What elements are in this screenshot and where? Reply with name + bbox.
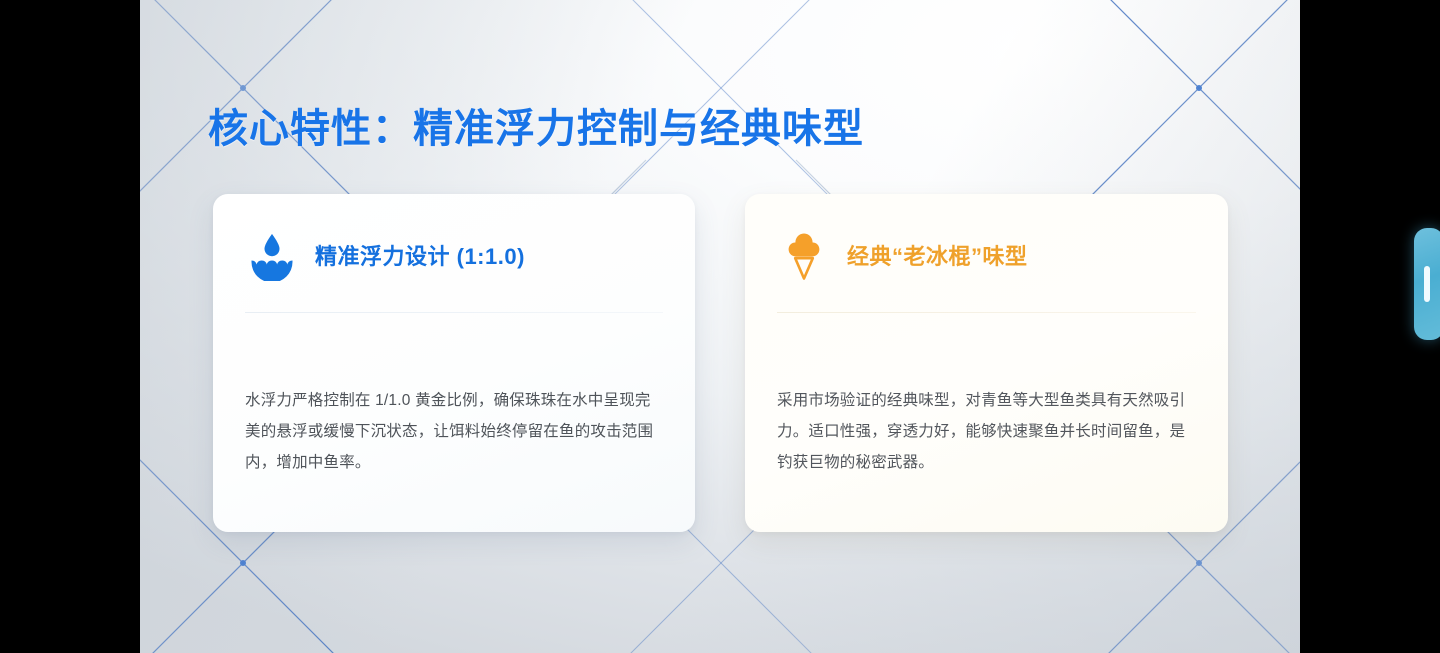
card-header: 精准浮力设计 (1:1.0) bbox=[245, 224, 663, 286]
feature-card-buoyancy[interactable]: 精准浮力设计 (1:1.0) 水浮力严格控制在 1/1.0 黄金比例，确保珠珠在… bbox=[213, 194, 695, 532]
card-title: 经典“老冰棍”味型 bbox=[847, 239, 1028, 271]
card-divider bbox=[245, 312, 663, 313]
page-title: 核心特性：精准浮力控制与经典味型 bbox=[208, 96, 864, 154]
card-body-text: 水浮力严格控制在 1/1.0 黄金比例，确保珠珠在水中呈现完美的悬浮或缓慢下沉状… bbox=[245, 385, 663, 478]
drawer-grip-icon bbox=[1424, 266, 1430, 302]
card-header: 经典“老冰棍”味型 bbox=[777, 224, 1196, 286]
screenshot-stage: 核心特性：精准浮力控制与经典味型 精准浮力设计 (1:1.0) 水浮力严格控制在… bbox=[0, 0, 1440, 653]
side-drawer-handle[interactable] bbox=[1414, 228, 1440, 340]
slide-canvas: 核心特性：精准浮力控制与经典味型 精准浮力设计 (1:1.0) 水浮力严格控制在… bbox=[140, 0, 1300, 653]
ice-cream-cone-icon bbox=[777, 228, 831, 282]
water-drop-icon bbox=[245, 228, 299, 282]
card-body-text: 采用市场验证的经典味型，对青鱼等大型鱼类具有天然吸引力。适口性强，穿透力好，能够… bbox=[777, 385, 1196, 478]
feature-card-flavor[interactable]: 经典“老冰棍”味型 采用市场验证的经典味型，对青鱼等大型鱼类具有天然吸引力。适口… bbox=[745, 194, 1228, 532]
letterbox-left bbox=[0, 0, 140, 653]
card-title: 精准浮力设计 (1:1.0) bbox=[315, 239, 525, 271]
card-divider bbox=[777, 312, 1196, 313]
